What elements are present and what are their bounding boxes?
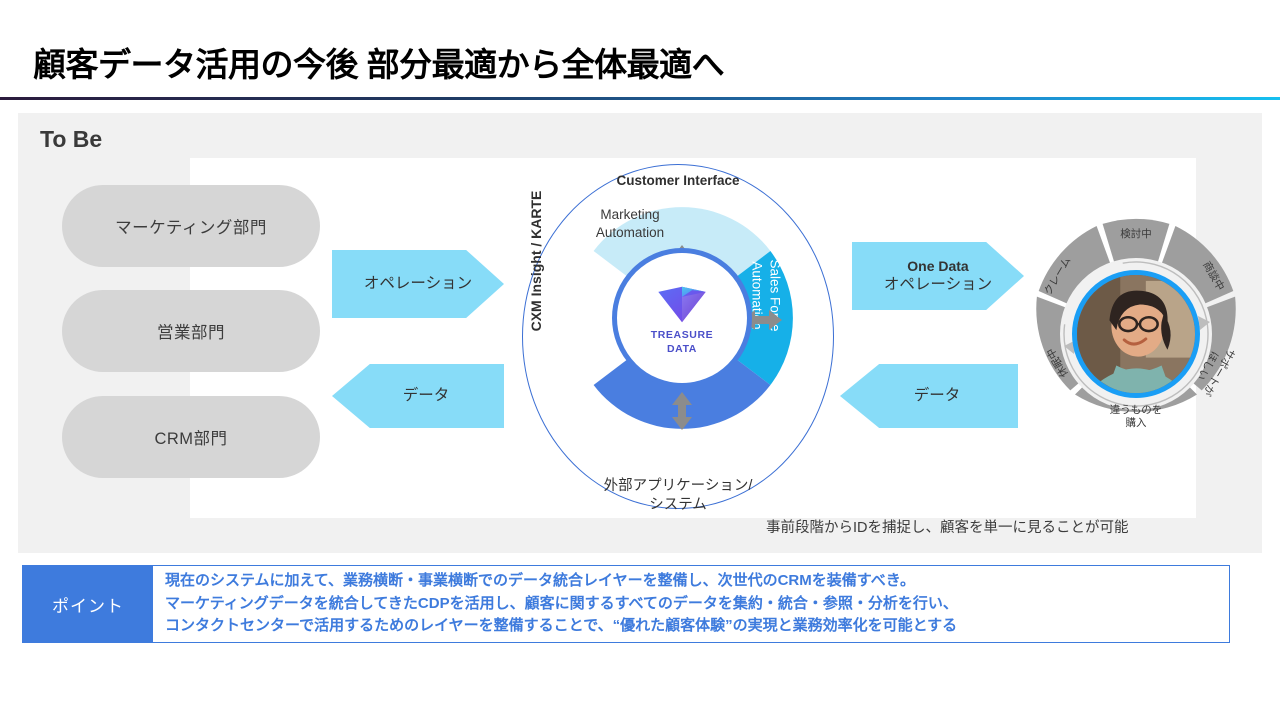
arrow-label: オペレーション <box>884 276 992 293</box>
cxm-insight-karte-label: CXM Insight / KARTE <box>528 166 544 356</box>
department-pill-marketing[interactable]: マーケティング部門 <box>62 185 320 267</box>
segment-label-marketing-automation: Marketing Automation <box>562 206 698 241</box>
point-callout-box: ポイント 現在のシステムに加えて、業務横断・事業横断でのデータ統合レイヤーを整備… <box>22 565 1230 643</box>
point-line: コンタクトセンターで活用するためのレイヤーを整備することで、“優れた顧客体験”の… <box>165 615 1219 638</box>
wheel-label-considering: 検討中 <box>1101 228 1171 241</box>
department-label: CRM部門 <box>154 425 227 449</box>
point-line: マーケティングデータを統合してきたCDPを活用し、顧客に関するすべてのデータを集… <box>165 593 1219 616</box>
department-pill-crm[interactable]: CRM部門 <box>62 396 320 478</box>
arrow-text-block: One Data オペレーション <box>884 258 992 295</box>
department-label: 営業部門 <box>157 319 225 343</box>
point-line: 現在のシステムに加えて、業務横断・事業横断でのデータ統合レイヤーを整備し、次世代… <box>165 570 1219 593</box>
point-tag-label: ポイント <box>23 566 153 642</box>
title-underline-rule <box>0 97 1280 100</box>
segment-label-contact-center: Contact Center <box>562 430 698 465</box>
double-arrow-down-icon <box>668 390 696 432</box>
point-body: 現在のシステムに加えて、業務横断・事業横断でのデータ統合レイヤーを整備し、次世代… <box>153 566 1229 642</box>
treasure-data-diamond-icon <box>654 280 710 324</box>
panel-label: To Be <box>40 126 102 153</box>
customer-interface-label: Customer Interface <box>508 173 848 188</box>
customer-journey-wheel: 検討中 商談中 サポートが ほしい 違うものを 購入 休眠中 クレーム <box>1020 218 1252 450</box>
arrow-lead-label: One Data <box>884 258 992 276</box>
segment-label-sales-force-automation: Sales Force Automation <box>748 236 783 356</box>
arrow-label: データ <box>403 386 450 405</box>
arrow-label: データ <box>914 386 961 405</box>
treasure-data-core: TREASURE DATA <box>612 248 752 388</box>
wheel-label-bought-other: 違うものを 購入 <box>1101 404 1171 429</box>
treasure-data-wordmark: TREASURE DATA <box>651 329 714 355</box>
avatar-illustration <box>1077 275 1195 393</box>
external-application-label: 外部アプリケーション/ システム <box>508 477 848 516</box>
arrow-label: オペレーション <box>364 274 472 293</box>
customer-avatar-photo <box>1072 270 1200 398</box>
stage-caption: 事前段階からIDを捕捉し、顧客を単一に見ることが可能 <box>766 516 1129 537</box>
slide: 顧客データ活用の今後 部分最適から全体最適へ To Be マーケティング部門 営… <box>0 0 1280 720</box>
page-title: 顧客データ活用の今後 部分最適から全体最適へ <box>33 38 724 86</box>
cx-diagram: Customer Interface CXM Insight / KARTE M… <box>508 158 848 518</box>
department-label: マーケティング部門 <box>115 214 267 238</box>
department-pill-sales[interactable]: 営業部門 <box>62 290 320 372</box>
